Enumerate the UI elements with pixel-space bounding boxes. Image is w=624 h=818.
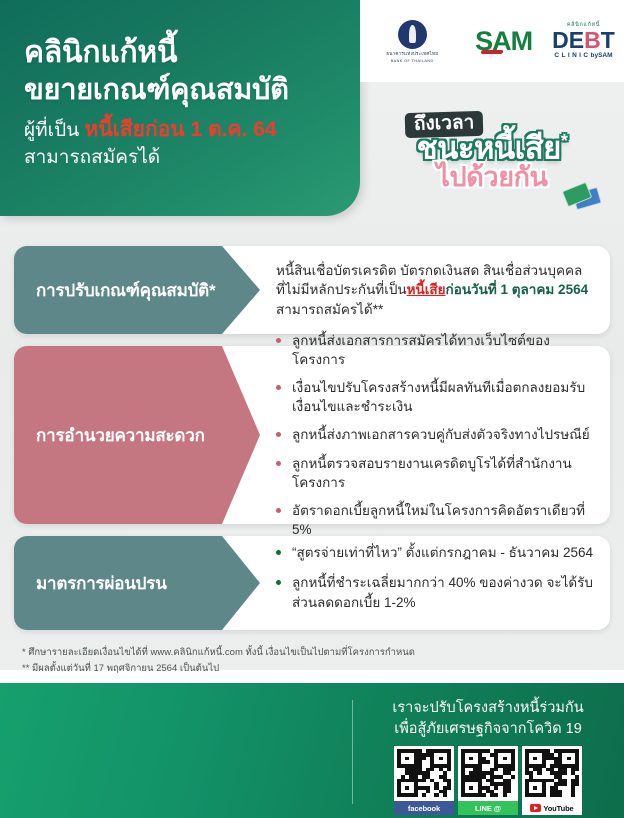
slogan-line2: เพื่อสู้ภัยเศรษฐกิจจากโควิด 19 xyxy=(366,719,610,740)
qualification-part3: สามารถสมัครได้** xyxy=(276,302,383,317)
debt-clinic-logo: คลินิกแก้หนี้ DEBT CLINICbySAM xyxy=(552,23,615,60)
footer-divider xyxy=(352,700,353,804)
list-item: ลูกหนี้ที่ชำระเฉลี่ยมากกว่า 40% ของค่างว… xyxy=(276,573,594,611)
qr-facebook-label: facebook xyxy=(394,800,454,815)
badge-line2: ชนะหนี้เสีย* xyxy=(368,132,616,165)
header-subtitle-line2: สามารถสมัครได้ xyxy=(24,145,354,171)
footnote-2: ** มีผลตั้งแต่วันที่ 17 พฤศจิกายน 2564 เ… xyxy=(22,661,582,677)
qr-facebook-image[interactable] xyxy=(394,746,454,800)
campaign-badge: ถึงเวลา ชนะหนี้เสีย* ไปด้วยกัน xyxy=(368,112,616,212)
footnotes-block: * ศึกษารายละเอียดเงื่อนไขได้ที่ www.คลิน… xyxy=(22,645,582,677)
qr-line-label: LINE @ xyxy=(458,800,518,815)
convenience-bullet-list: ลูกหนี้ส่งเอกสารการสมัครได้ทางเว็บไซต์ขอ… xyxy=(276,331,594,539)
qualification-part2: ที่ไม่มีหลักประกันที่เป็น xyxy=(276,282,407,297)
qr-line-grid xyxy=(461,749,515,797)
section-card-qualification: การปรับเกณฑ์คุณสมบัติ* หนี้สินเชื่อบัตรเ… xyxy=(14,246,610,334)
sam-swoosh-icon xyxy=(481,50,504,54)
debt-logo-sam: SAM xyxy=(598,52,612,59)
bot-logo-thai-text: ธนาคารแห่งประเทศไทย xyxy=(386,51,438,58)
qr-youtube[interactable]: YouTube xyxy=(522,746,582,815)
debt-logo-clinic: CLINIC xyxy=(554,52,590,59)
sam-logo: SAM xyxy=(475,26,532,57)
debt-logo-b: B xyxy=(584,27,601,53)
section-body-qualification: หนี้สินเชื่อบัตรเครดิต บัตรกดเงินสด สินเ… xyxy=(276,246,594,334)
qualification-green-highlight: ก่อนวันที่ 1 ตุลาคม 2564 xyxy=(446,282,589,297)
debt-logo-by: by xyxy=(591,52,599,59)
section-label-relief: มาตรการผ่อนปรน xyxy=(14,536,260,630)
qr-line[interactable]: LINE @ xyxy=(458,746,518,815)
qr-youtube-text: YouTube xyxy=(543,804,573,813)
relief-bullet-list: “สูตรจ่ายเท่าที่ไหว” ตั้งแต่กรกฎาคม - ธั… xyxy=(276,543,594,622)
list-item: ลูกหนี้ตรวจสอบรายงานเครดิตบูโรได้ที่สำนั… xyxy=(276,454,594,492)
qr-facebook[interactable]: facebook xyxy=(394,746,454,815)
logo-row: ธนาคารแห่งประเทศไทย BANK OF THAILAND SAM… xyxy=(360,0,624,82)
debt-logo-subtext: CLINICbySAM xyxy=(554,53,612,60)
qualification-part1: หนี้สินเชื่อบัตรเครดิต บัตรกดเงินสด สินเ… xyxy=(276,263,582,278)
section-label-qualification: การปรับเกณฑ์คุณสมบัติ* xyxy=(14,246,260,334)
debt-logo-wordmark: DEBT xyxy=(552,29,615,52)
slogan-line1: เราจะปรับโครงสร้างหนี้ร่วมกัน xyxy=(366,698,610,719)
qr-code-group: facebook LINE @ YouTube xyxy=(366,746,610,815)
slogan-and-qr-block: เราจะปรับโครงสร้างหนี้ร่วมกัน เพื่อสู้ภั… xyxy=(366,698,610,815)
qr-youtube-label: YouTube xyxy=(522,800,582,815)
list-item: ลูกหนี้ส่งเอกสารการสมัครได้ทางเว็บไซต์ขอ… xyxy=(276,331,594,369)
header-subtitle-line1: ผู้ที่เป็น หนี้เสียก่อน 1 ต.ค. 64 xyxy=(24,115,354,145)
list-item: “สูตรจ่ายเท่าที่ไหว” ตั้งแต่กรกฎาคม - ธั… xyxy=(276,543,594,562)
badge-asterisk: * xyxy=(561,131,568,151)
bot-seal-icon xyxy=(398,20,427,49)
bank-of-thailand-logo: ธนาคารแห่งประเทศไทย BANK OF THAILAND xyxy=(369,20,455,63)
header-subtitle-prefix: ผู้ที่เป็น xyxy=(24,120,84,141)
list-item: อัตราดอกเบี้ยลูกหนี้ใหม่ในโครงการคิดอัตร… xyxy=(276,501,594,539)
qr-facebook-grid xyxy=(397,749,451,797)
list-item: ลูกหนี้ส่งภาพเอกสารควบคู่กับส่งตัวจริงทา… xyxy=(276,425,594,444)
section-card-relief: มาตรการผ่อนปรน “สูตรจ่ายเท่าที่ไหว” ตั้ง… xyxy=(14,536,610,630)
list-item: เงื่อนไขปรับโครงสร้างหนี้มีผลทันทีเมื่อต… xyxy=(276,378,594,416)
badge-line1: ถึงเวลา xyxy=(405,111,484,138)
header-text-block: คลินิกแก้หนี้ ขยายเกณฑ์คุณสมบัติ ผู้ที่เ… xyxy=(24,34,354,172)
header-subtitle-highlight: หนี้เสียก่อน 1 ต.ค. 64 xyxy=(84,118,276,141)
youtube-play-icon xyxy=(530,804,541,812)
section-body-convenience: ลูกหนี้ส่งเอกสารการสมัครได้ทางเว็บไซต์ขอ… xyxy=(276,346,594,524)
debt-logo-t: T xyxy=(601,27,615,53)
qr-line-image[interactable] xyxy=(458,746,518,800)
header-panel: คลินิกแก้หนี้ ขยายเกณฑ์คุณสมบัติ ผู้ที่เ… xyxy=(0,0,360,216)
section-label-convenience: การอำนวยความสะดวก xyxy=(14,346,260,524)
qualification-paragraph: หนี้สินเชื่อบัตรเครดิต บัตรกดเงินสด สินเ… xyxy=(276,261,594,320)
section-body-relief: “สูตรจ่ายเท่าที่ไหว” ตั้งแต่กรกฎาคม - ธั… xyxy=(276,536,594,630)
bot-logo-english-text: BANK OF THAILAND xyxy=(391,59,434,63)
page-title-line2: ขยายเกณฑ์คุณสมบัติ xyxy=(24,72,354,110)
section-card-convenience: การอำนวยความสะดวก ลูกหนี้ส่งเอกสารการสมั… xyxy=(14,346,610,524)
qr-youtube-grid xyxy=(525,749,579,797)
debt-logo-de: DE xyxy=(552,27,584,53)
page-title-line1: คลินิกแก้หนี้ xyxy=(24,34,354,72)
qr-youtube-image[interactable] xyxy=(522,746,582,800)
infographic-poster: คลินิกแก้หนี้ ขยายเกณฑ์คุณสมบัติ ผู้ที่เ… xyxy=(0,0,624,818)
footnote-1: * ศึกษารายละเอียดเงื่อนไขได้ที่ www.คลิน… xyxy=(22,645,582,661)
credit-cards-icon xyxy=(560,184,600,210)
qualification-red-highlight: หนี้เสีย xyxy=(407,282,446,297)
